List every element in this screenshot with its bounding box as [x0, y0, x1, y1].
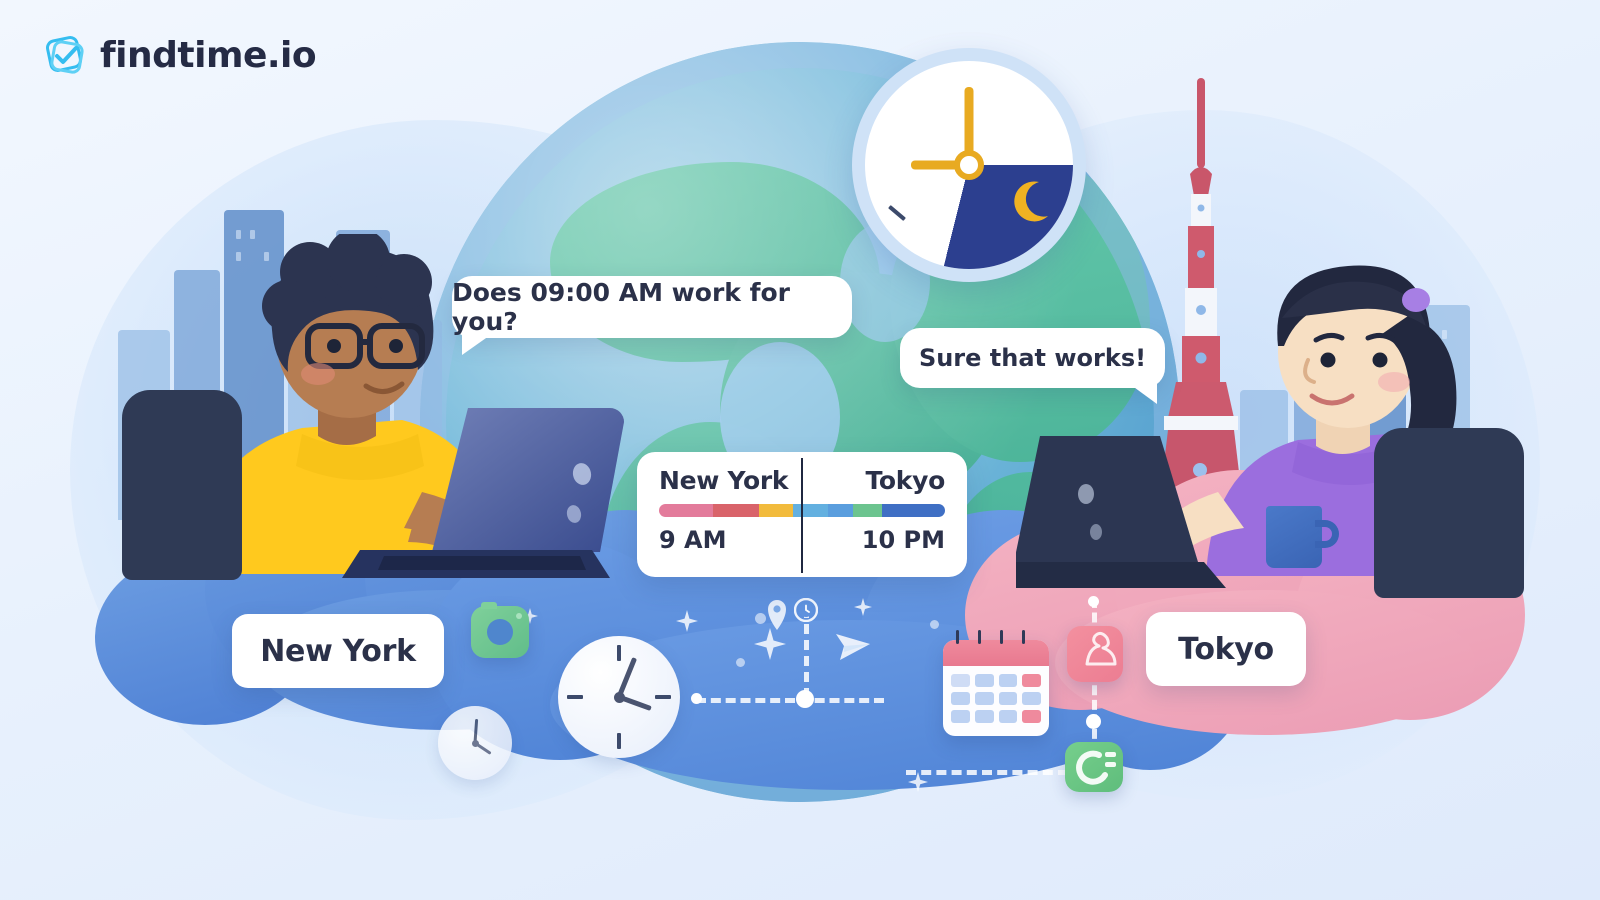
location-pill-newyork[interactable]: New York	[232, 614, 444, 688]
timezone-compare-card: New York Tokyo 9 AM 10 PM	[637, 452, 967, 577]
timezone-bar-segment-1	[713, 504, 759, 517]
speech-bubble-left-text: Does 09:00 AM work for you?	[452, 278, 852, 336]
connector-line	[906, 770, 1068, 775]
speech-bubble-right: Sure that works!	[900, 328, 1165, 388]
map-pin-icon	[766, 600, 788, 630]
location-pill-tokyo-label: Tokyo	[1178, 632, 1274, 667]
app-tile-icon	[1065, 742, 1123, 792]
decor-dot	[930, 620, 939, 629]
crescent-moon-icon	[1005, 179, 1051, 225]
analog-clock-icon	[438, 706, 512, 780]
illustration-canvas: Does 09:00 AM work for you? Sure that wo…	[0, 0, 1600, 900]
timezone-bar-segment-6	[882, 504, 945, 517]
compare-left-time: 9 AM	[659, 526, 727, 554]
clock-node-icon	[794, 598, 818, 622]
brand-name: findtime.io	[100, 35, 316, 76]
compare-right-time: 10 PM	[862, 526, 945, 554]
camera-icon	[471, 606, 529, 658]
laptop-icon	[330, 398, 630, 588]
laptop-icon	[1016, 428, 1262, 596]
location-pill-newyork-label: New York	[260, 634, 416, 669]
paper-plane-icon	[834, 628, 872, 662]
connector-node	[691, 693, 702, 704]
connector-node	[1086, 714, 1101, 729]
compare-left-city: New York	[659, 466, 788, 495]
timezone-bar-segment-2	[759, 504, 793, 517]
timezone-bar-segment-0	[659, 504, 713, 517]
calendar-icon	[943, 640, 1049, 736]
diamond-check-icon	[42, 32, 88, 78]
clock-day-night-icon	[852, 48, 1086, 282]
speech-bubble-tail	[462, 331, 496, 355]
timezone-bar-segment-5	[853, 504, 882, 517]
connector-node	[796, 690, 814, 708]
brand-logo[interactable]: findtime.io	[42, 32, 316, 78]
connector-node	[1088, 596, 1099, 607]
compare-divider	[801, 458, 803, 573]
coffee-mug-icon	[1266, 506, 1322, 568]
app-tile-icon	[1067, 626, 1123, 682]
timezone-bar-segment-3	[793, 504, 827, 517]
connector-line	[696, 698, 884, 703]
location-pill-tokyo[interactable]: Tokyo	[1146, 612, 1306, 686]
analog-clock-icon	[558, 636, 680, 758]
speech-bubble-left: Does 09:00 AM work for you?	[452, 276, 852, 338]
compare-right-city: Tokyo	[865, 466, 945, 495]
clock-center-cap	[954, 150, 984, 180]
speech-bubble-right-text: Sure that works!	[919, 344, 1146, 372]
timezone-bar-segment-4	[828, 504, 854, 517]
decor-dot	[736, 658, 745, 667]
speech-bubble-tail	[1127, 382, 1157, 404]
decor-dot	[755, 613, 766, 624]
